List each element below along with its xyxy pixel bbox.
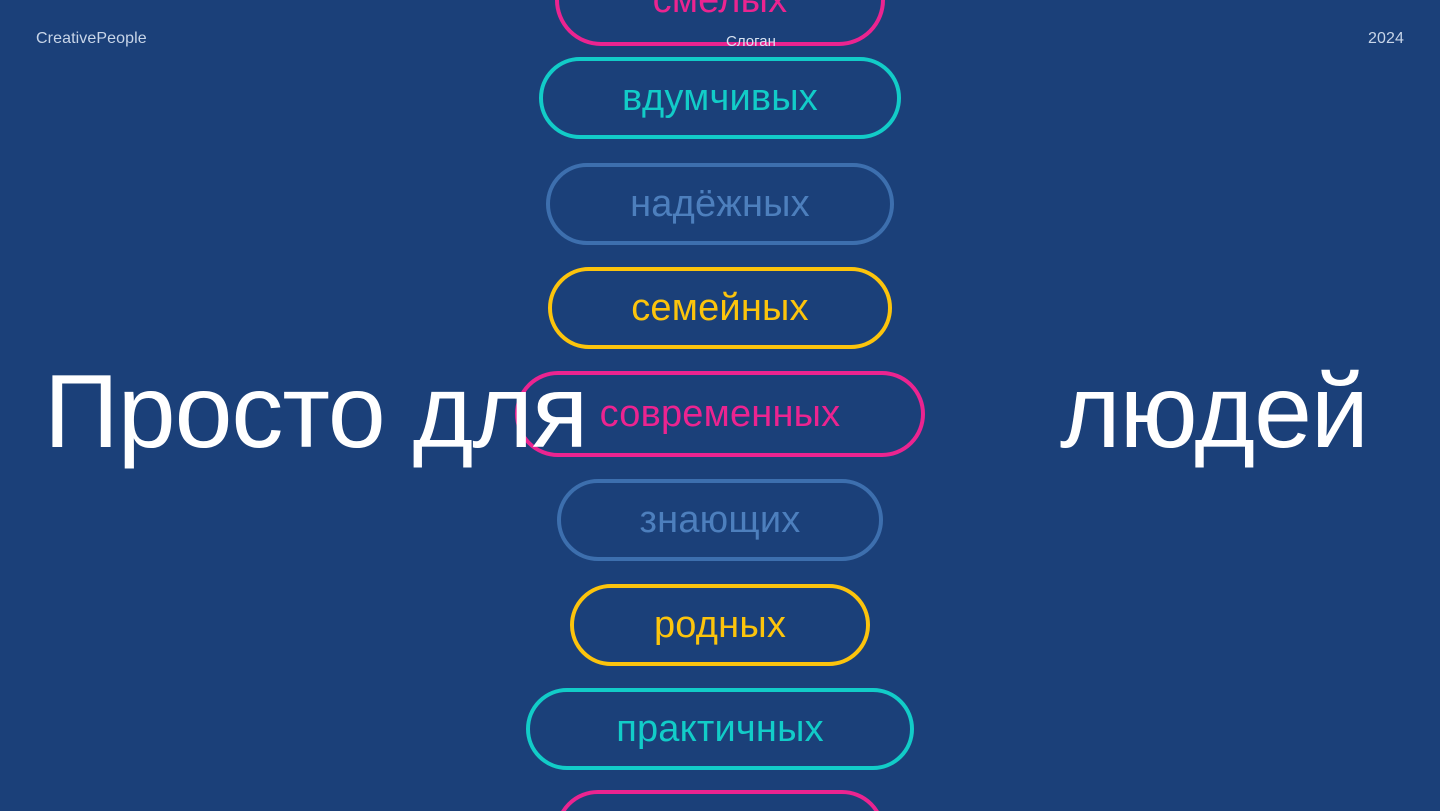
headline-left: Просто для [44, 357, 587, 467]
word-pill-label: знающих [640, 501, 801, 539]
word-pill-rodnyh[interactable]: родных [570, 584, 870, 666]
word-pill-label: вдумчивых [622, 79, 818, 117]
word-pill-znayushchih[interactable]: знающих [557, 479, 883, 561]
word-pill-label: современных [600, 395, 841, 433]
word-pill-praktichnyh[interactable]: практичных [526, 688, 914, 770]
word-pill-vdumchivyh[interactable]: вдумчивых [539, 57, 901, 139]
word-pill-nadezhnyh[interactable]: надёжных [546, 163, 894, 245]
word-pill-label: родных [654, 606, 786, 644]
slide-root: CreativePeople 2024 Слоган Просто для лю… [0, 0, 1440, 811]
word-pill-smelyh[interactable]: смелых [555, 0, 885, 46]
word-pill-label: смелых [653, 0, 788, 19]
word-pill-label: семейных [631, 289, 809, 327]
word-pill-label: практичных [616, 710, 824, 748]
word-pill-label: надёжных [630, 185, 810, 223]
headline-right: людей [1060, 357, 1368, 467]
kicker-label: Слоган [726, 34, 776, 49]
word-pill-next-clipped[interactable] [555, 790, 885, 811]
word-pill-semeynyh[interactable]: семейных [548, 267, 892, 349]
